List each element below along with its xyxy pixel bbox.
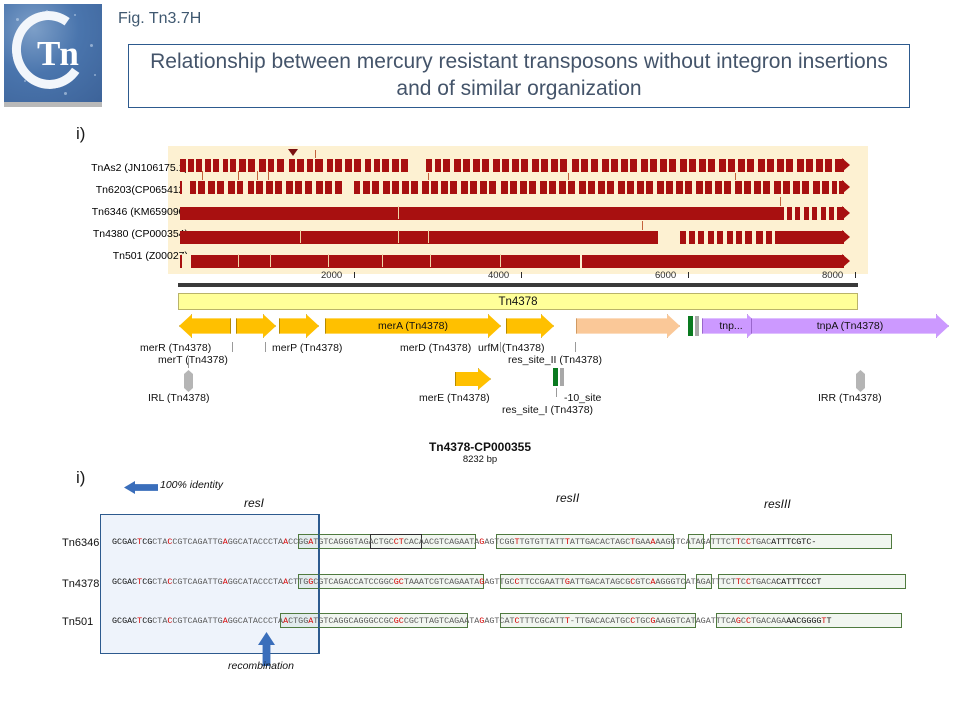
gene-arrow-merP[interactable] [279,314,319,338]
ruler-tick-2000: 2000 [321,270,342,281]
gene-label-minus10: -10_site [564,392,601,404]
ruler-tick-8000: 8000 [822,270,843,281]
gene-label-res-site-II: res_site_II (Tn4378) [508,354,602,366]
panel-marker-one: i) [76,124,85,144]
recombination-label: recombination [228,660,294,672]
gene-arrow-merE[interactable] [455,368,491,390]
logo-tn-text: Tn [37,34,78,74]
identity-legend-label: 100% identity [160,479,223,491]
res-site-label-resI: resI [244,496,264,510]
gene-arrow-urfM[interactable] [576,314,680,338]
identity-legend-arrow-icon [124,481,158,494]
ruler-labels: 2000 4000 6000 8000 [178,270,858,284]
map-caption-title: Tn4378-CP000355 [0,440,960,454]
gene-label-merP: merP (Tn4378) [272,342,342,354]
title-box: Relationship between mercury resistant t… [128,44,910,108]
gene-label-irl: IRL (Tn4378) [148,392,209,404]
res-site-I-marker [688,316,693,336]
alignment-track-tn4380 [180,230,852,245]
minus10-site-marker [695,316,699,336]
alignment-track-tn501 [180,254,852,269]
row-label-tn501: Tn501 (Z00027) [38,250,188,272]
gene-arrow-merR[interactable] [179,314,231,338]
gene-label-merE: merE (Tn4378) [419,392,490,404]
sequence-tn6346: GCGACTCGCTACCGTCAGATTGAGGCATACCCTAACCGGA… [112,536,952,549]
alignment-track-tnas2 [180,158,852,173]
ruler-tick-4000: 4000 [488,270,509,281]
seq-row-name-tn6346: Tn6346 [62,537,99,549]
gene-label-irr: IRR (Tn4378) [818,392,882,404]
gene-arrow-merT[interactable] [236,314,276,338]
gene-label-res-site-I: res_site_I (Tn4378) [502,404,593,416]
logo-shadow [4,102,102,107]
sequence-tn501: GCGACTCGCTACCGTCAGATTGAGGCATACCCTAACTGGA… [112,615,952,628]
gene-arrow-tnpA[interactable]: tnpA (Tn4378) [751,314,949,338]
alignment-row-labels: TnAs2 (JN106175.1) Tn6203(CP065412) Tn63… [38,162,188,272]
variant-marker [288,149,298,156]
ruler-tick-6000: 6000 [655,270,676,281]
minus10-site-marker-2 [560,368,564,386]
res-site-I-marker-2 [553,368,558,386]
res-site-label-resII: resII [556,491,579,505]
gene-label-merR: merR (Tn4378) [140,342,211,354]
gene-labels-row2: merT (Tn4378) res_site_II (Tn4378) [0,354,960,368]
ctn-logo: Tn [4,4,102,102]
alignment-track-tn6346 [180,206,852,221]
recomb-guide-right [318,514,319,654]
recomb-guide-left [100,514,101,654]
row-label-tn6346: Tn6346 (KM659090) [38,206,188,228]
reference-bar-tn4378: Tn4378 [178,293,858,310]
irr-marker-icon [856,370,865,392]
gene-arrow-merD[interactable] [506,314,554,338]
gene-arrow-merA[interactable]: merA (Tn4378) [325,314,501,338]
res-site-label-resIII: resIII [764,497,791,511]
gene-label-urfM: urfM (Tn4378) [478,342,545,354]
figure-label: Fig. Tn3.7H [118,10,201,28]
alignment-track-tn6203 [180,180,852,195]
sequence-tn4378: GCGACTCGCTACCGTCAGATTGAGGCATACCCTAACTTGG… [112,576,952,589]
row-label-tn4380: Tn4380 (CP000354) [38,228,188,250]
row-label-tnas2: TnAs2 (JN106175.1) [38,162,188,184]
gene-map: merA (Tn4378) tnp... tnpA (Tn4378) [178,314,878,340]
seq-row-name-tn501: Tn501 [62,616,93,628]
irl-marker-icon [184,370,193,392]
panel-marker-two: i) [76,468,85,488]
seq-row-name-tn4378: Tn4378 [62,578,99,590]
page-title: Relationship between mercury resistant t… [129,49,909,103]
map-caption-length: 8232 bp [0,454,960,465]
gene-label-merD: merD (Tn4378) [400,342,471,354]
row-label-tn6203: Tn6203(CP065412) [38,184,188,206]
gene-label-merT: merT (Tn4378) [158,354,228,366]
